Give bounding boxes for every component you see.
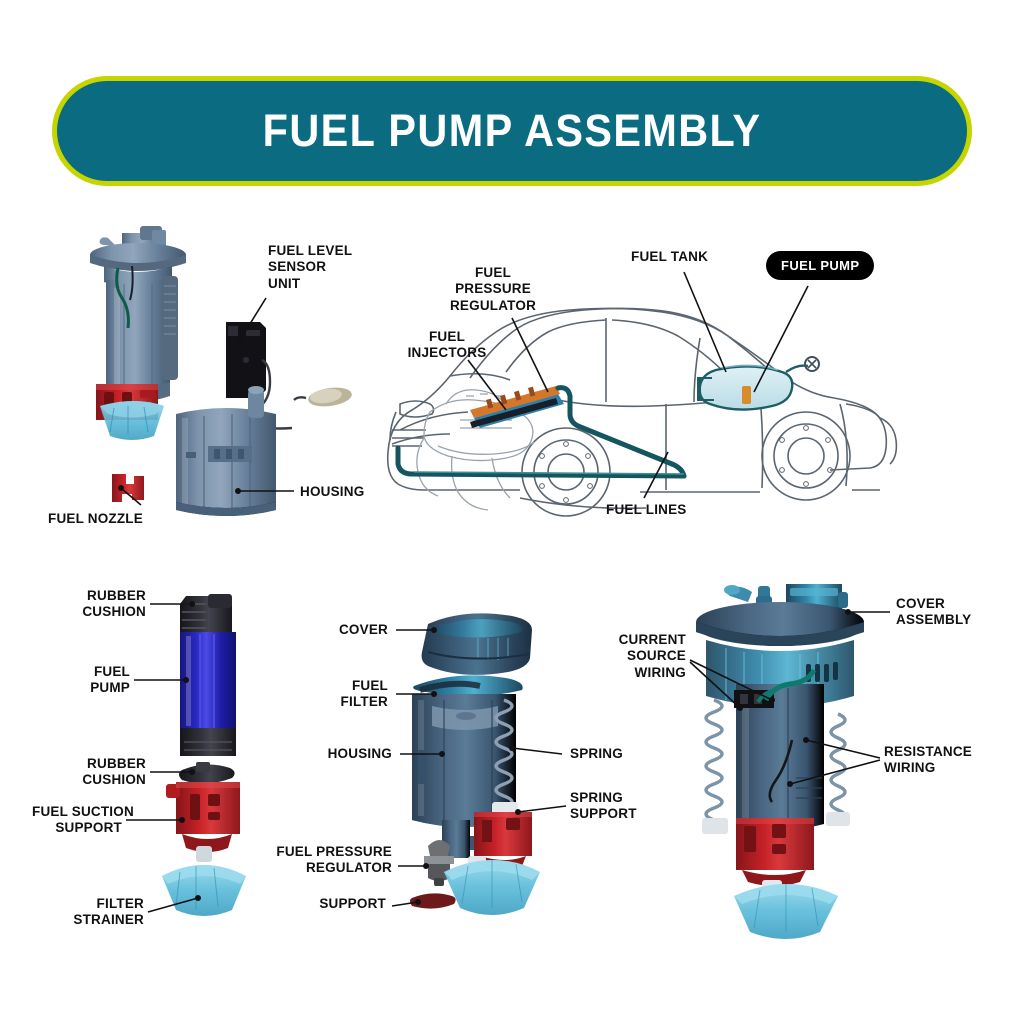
rubber-cushion-upper-art [180, 594, 232, 632]
label-support: SUPPORT [290, 896, 386, 912]
label-cover-assembly: COVER ASSEMBLY [896, 596, 971, 629]
fuel-rail-art [470, 386, 564, 428]
left-spring-art [706, 700, 722, 820]
page-title: FUEL PUMP ASSEMBLY [263, 105, 762, 157]
label-fuel-tank: FUEL TANK [631, 249, 708, 265]
fuel-suction-support-art [166, 782, 240, 852]
label-spring: SPRING [570, 746, 623, 762]
fuel-filter-art [413, 675, 522, 696]
fuel-nozzle-art [112, 474, 144, 502]
spring-art [496, 700, 512, 820]
filter-strainer-art [162, 846, 246, 916]
diagram-page: FUEL PUMP ASSEMBLY [0, 0, 1024, 1024]
right-strainer-art [734, 880, 838, 939]
page-title-banner: FUEL PUMP ASSEMBLY [52, 76, 972, 186]
middle-strainer-art [444, 856, 540, 915]
module-body-art [706, 640, 854, 830]
right-red-support-art [736, 818, 814, 886]
cover-art [422, 613, 532, 675]
fuel-lines-highlight [414, 472, 684, 474]
label-fuel-level-sensor-unit: FUEL LEVEL SENSOR UNIT [268, 243, 352, 292]
label-fuel-lines: FUEL LINES [606, 502, 687, 518]
label-fuel-injectors: FUEL INJECTORS [400, 329, 494, 362]
support-art [410, 893, 456, 908]
spring-support-art [474, 802, 532, 869]
fuel-pump-module-art [90, 226, 186, 440]
label-fuel-pressure-regulator-middle: FUEL PRESSURE REGULATOR [274, 844, 392, 877]
label-cover: COVER [300, 622, 388, 638]
housing-block-art [176, 386, 276, 516]
label-filter-strainer: FILTER STRAINER [50, 896, 144, 929]
label-resistance-wiring: RESISTANCE WIRING [884, 744, 972, 777]
right-spring-art [831, 714, 845, 822]
fuel-tank-art [698, 357, 819, 410]
fuel-pressure-regulator-art [424, 840, 454, 886]
fuel-level-sensor-art [226, 322, 353, 429]
housing-art-middle [412, 694, 516, 858]
label-housing-middle: HOUSING [290, 746, 392, 762]
label-fuel-nozzle: FUEL NOZZLE [48, 511, 143, 527]
fuel-lines-art [398, 388, 684, 476]
label-current-source-wiring: CURRENT SOURCE WIRING [592, 632, 686, 681]
label-spring-support: SPRING SUPPORT [570, 790, 637, 823]
car-wheels [522, 412, 850, 516]
label-rubber-cushion-upper: RUBBER CUSHION [50, 588, 146, 621]
bottom-right-leader-lines [690, 612, 890, 784]
label-fuel-suction-support: FUEL SUCTION SUPPORT [32, 804, 122, 837]
label-housing-top: HOUSING [300, 484, 364, 500]
bottom-middle-leader-lines [392, 630, 566, 906]
label-rubber-cushion-lower: RUBBER CUSHION [50, 756, 146, 789]
cover-assembly-art [696, 584, 864, 646]
rubber-cushion-lower-art [179, 762, 235, 784]
fuel-pump-body-art [180, 632, 236, 756]
top-left-leader-lines [122, 298, 294, 505]
label-fuel-pump-left: FUEL PUMP [50, 664, 130, 697]
engine-art [417, 390, 534, 510]
label-fuel-pressure-regulator-car: FUEL PRESSURE REGULATOR [420, 265, 566, 314]
label-fuel-pump-badge: FUEL PUMP [766, 251, 874, 280]
label-fuel-filter: FUEL FILTER [300, 678, 388, 711]
